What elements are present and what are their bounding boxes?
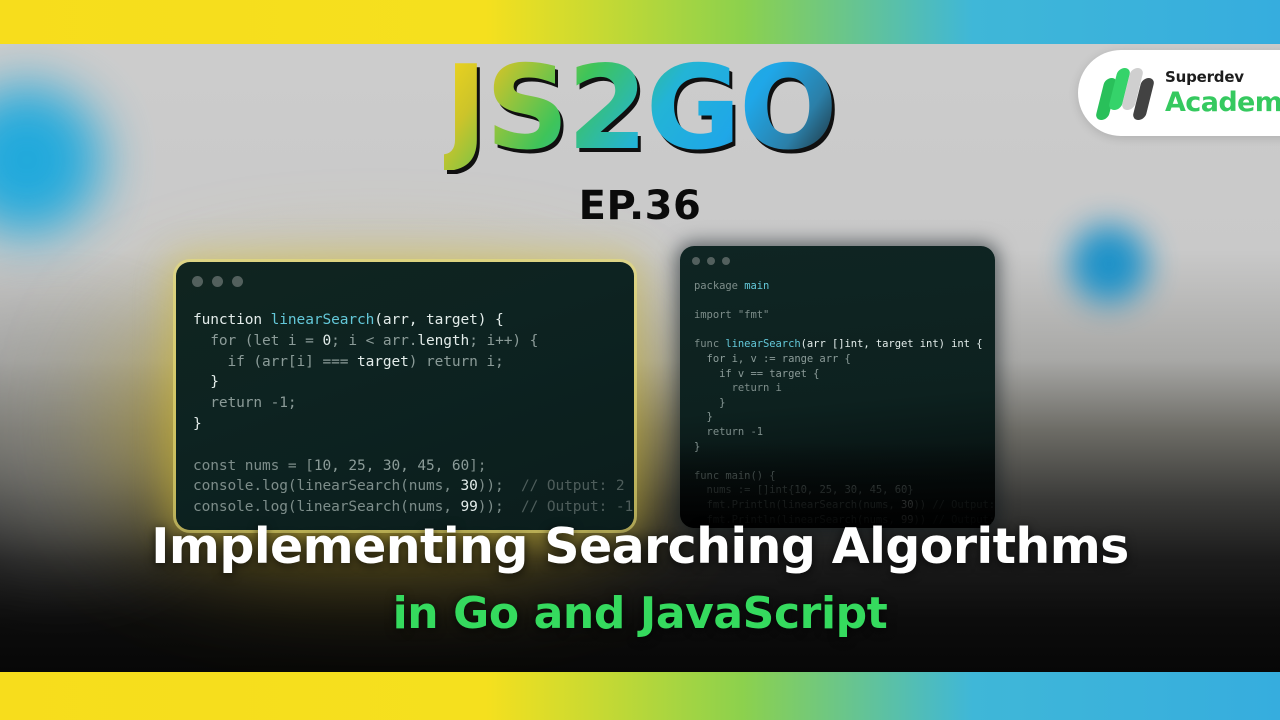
academy-badge: Superdev Academy	[1078, 50, 1280, 136]
code-block-go: package main import "fmt" func linearSea…	[694, 279, 995, 528]
episode-label: EP.36	[0, 183, 1280, 229]
window-dots-go	[692, 257, 730, 265]
superdev-logo-icon	[1096, 66, 1154, 120]
js2go-wordmark: JS2GO	[444, 48, 835, 170]
window-dot-maximize-icon	[722, 257, 730, 265]
page-title-line1: Implementing Searching Algorithms	[0, 518, 1280, 575]
window-dot-minimize-icon	[707, 257, 715, 265]
window-dot-minimize-icon	[212, 276, 223, 287]
bottom-gradient-banner	[0, 672, 1280, 720]
code-block-javascript: function linearSearch(arr, target) { for…	[193, 310, 633, 518]
badge-brand-suffix: Academy	[1165, 89, 1280, 116]
code-panel-javascript: function linearSearch(arr, target) { for…	[176, 262, 634, 530]
academy-badge-text: Superdev Academy	[1165, 70, 1280, 116]
thumbnail-canvas: JS2GO EP.36 function linearSearch(arr, t…	[0, 0, 1280, 720]
decorative-blue-circle-right	[1070, 225, 1148, 303]
window-dot-close-icon	[692, 257, 700, 265]
code-panel-go: package main import "fmt" func linearSea…	[680, 246, 995, 528]
window-dot-maximize-icon	[232, 276, 243, 287]
badge-brand-name: Superdev	[1165, 70, 1280, 85]
window-dots-javascript	[192, 276, 243, 287]
top-gradient-banner	[0, 0, 1280, 44]
page-title-line2: in Go and JavaScript	[0, 588, 1280, 639]
window-dot-close-icon	[192, 276, 203, 287]
